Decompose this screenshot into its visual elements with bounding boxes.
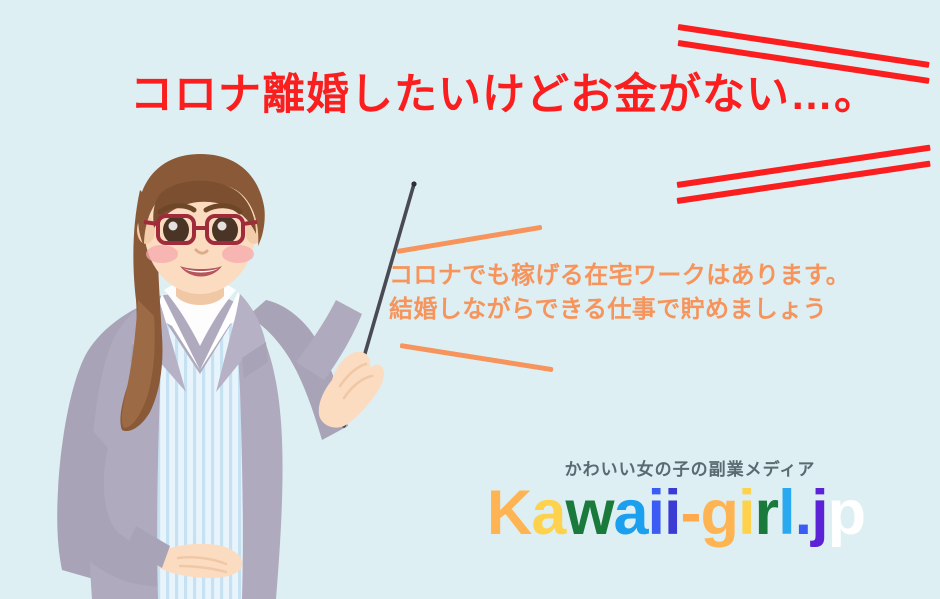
logo-letter-7: g [701,482,738,545]
logo-letter-9: r [755,482,779,545]
logo-letter-0: K [487,482,532,545]
logo-tagline: かわいい女の子の副業メディア [494,455,886,480]
logo-letter-6: - [681,482,701,545]
logo-letter-11: . [795,482,812,545]
logo-letter-4: i [648,482,665,545]
logo-letter-12: j [811,482,828,545]
logo-letter-5: i [664,482,681,545]
logo-letter-8: i [738,482,755,545]
logo-wordmark: Kawaii-girl.jp [466,482,886,545]
subcopy-line-2: 結婚しながらできる仕事で貯めましょう [389,293,919,327]
site-logo[interactable]: かわいい女の子の副業メディア Kawaii-girl.jp [466,455,886,545]
logo-letter-10: l [778,482,795,545]
subcopy-line-1: コロナでも稼げる在宅ワークはあります。 [389,259,919,293]
logo-letter-2: w [565,482,613,545]
headline-text: コロナ離婚したいけどお金がない…。 [130,72,890,119]
logo-letter-1: a [531,482,565,545]
logo-letter-3: a [613,482,647,545]
promo-banner: コロナ離婚したいけどお金がない…。 コロナでも稼げる在宅ワークはあります。 結婚… [0,0,940,599]
businesswoman-illustration [40,130,440,599]
subcopy-text: コロナでも稼げる在宅ワークはあります。 結婚しながらできる仕事で貯めましょう [389,259,919,327]
logo-letter-13: p [828,482,865,545]
